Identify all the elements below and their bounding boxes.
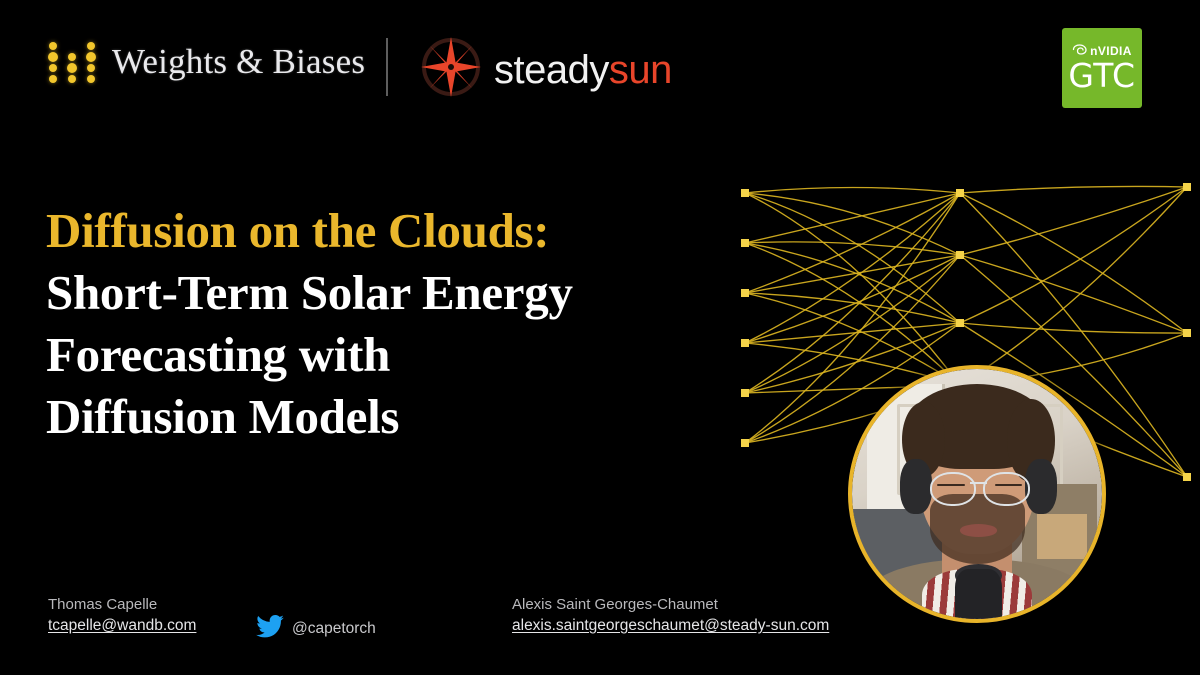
logo-bar: Weights & Biases — [0, 0, 1200, 130]
steadysun-star-icon — [420, 36, 482, 98]
logo-divider — [386, 38, 388, 96]
steadysun-word-sun: sun — [609, 48, 672, 92]
webcam-video-feed — [852, 369, 1102, 619]
presenter-name: Alexis Saint Georges-Chaumet — [512, 595, 829, 615]
speaker-webcam — [848, 365, 1106, 623]
wandb-wordmark: Weights & Biases — [112, 42, 365, 82]
presenter-alexis-saint-georges-chaumet: Alexis Saint Georges-Chaumet alexis.sain… — [512, 595, 829, 637]
wandb-dots-icon — [48, 40, 96, 84]
nvidia-gtc-badge: nVIDIA GTC — [1062, 28, 1142, 108]
twitter-bird-icon — [256, 615, 284, 643]
presenter-thomas-capelle: Thomas Capelle tcapelle@wandb.com — [48, 595, 196, 637]
slide-title: Diffusion on the Clouds: Short-Term Sola… — [46, 200, 706, 448]
wandb-logo: Weights & Biases — [48, 40, 365, 84]
presentation-slide: Weights & Biases — [0, 0, 1200, 675]
twitter-handle[interactable]: @capetorch — [256, 615, 376, 643]
presenter-name: Thomas Capelle — [48, 595, 196, 615]
steadysun-logo: steadysun — [420, 36, 672, 98]
steadysun-wordmark: steadysun — [494, 50, 672, 90]
steadysun-word-steady: steady — [494, 48, 609, 92]
title-line-2: Short-Term Solar Energy — [46, 262, 706, 324]
title-line-3: Forecasting with — [46, 324, 706, 386]
presenter-email-link[interactable]: alexis.saintgeorgeschaumet@steady-sun.co… — [512, 615, 829, 637]
presenter-email-link[interactable]: tcapelle@wandb.com — [48, 615, 196, 637]
gtc-wordmark: GTC — [1068, 59, 1135, 92]
title-line-4: Diffusion Models — [46, 386, 706, 448]
title-line-1: Diffusion on the Clouds: — [46, 200, 706, 262]
footer: Thomas Capelle tcapelle@wandb.com @capet… — [0, 595, 1200, 655]
twitter-handle-text: @capetorch — [292, 620, 376, 638]
